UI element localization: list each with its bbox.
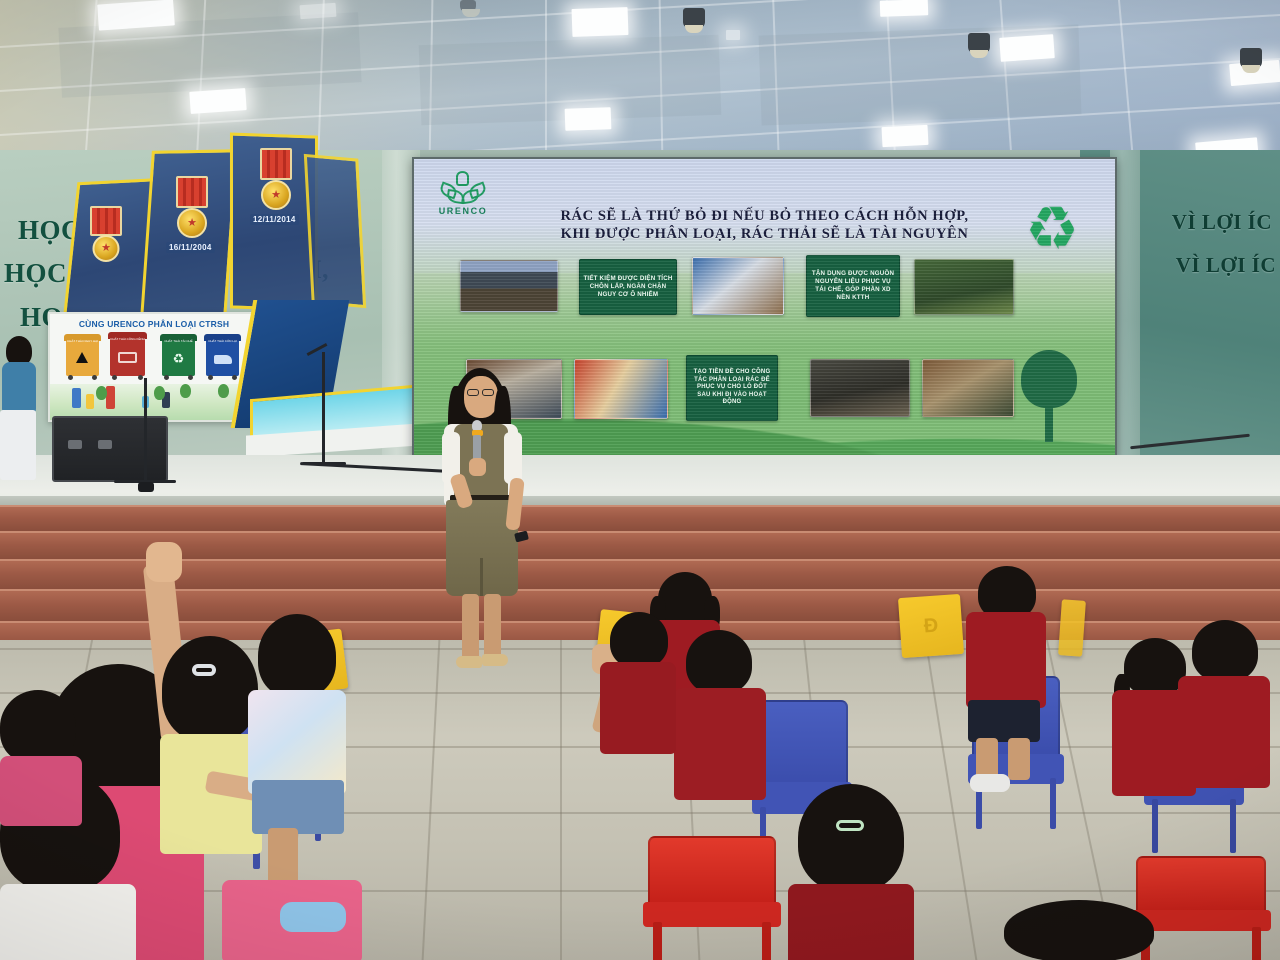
ceiling-spotlight-icon: [1240, 48, 1262, 68]
medal-3: ★: [258, 148, 294, 210]
mic-stand-left: [108, 378, 184, 498]
ceiling-panel-light: [189, 88, 246, 114]
child-uniform: [788, 884, 914, 960]
stage-step: [0, 505, 1280, 531]
child-uniform: [1178, 676, 1270, 788]
child-r3: [600, 612, 678, 762]
child-hair: [1004, 900, 1154, 960]
poster-person: [72, 388, 81, 408]
ceiling-panel-light: [300, 3, 337, 19]
staff-skirt: [0, 410, 36, 480]
residual-waste-icon: [214, 355, 232, 364]
slide-photo-sorting-hands: [692, 257, 784, 315]
ceiling-panel-light: [572, 7, 629, 37]
poster-tree: [218, 384, 229, 398]
child-r7: [786, 784, 916, 960]
slide-photo-green-field: [914, 259, 1014, 315]
poster-title: CÙNG URENCO PHÂN LOẠI CTRSH: [50, 319, 258, 329]
presenter-leg-left: [462, 594, 479, 662]
child-hair: [1192, 620, 1258, 682]
child-sneaker: [970, 774, 1010, 792]
child-l3: [242, 614, 350, 860]
presenter-face: [464, 376, 498, 418]
ceiling-panel-light: [726, 30, 740, 40]
hair-tie: [836, 820, 864, 831]
slide-photo-landfill-city: [460, 260, 558, 312]
bin-yellow-label: CHẤT THẢI NGUY HẠI: [66, 339, 99, 343]
chair-red[interactable]: [1136, 856, 1266, 960]
medal-1: ★: [88, 206, 124, 262]
bin-yellow: CHẤT THẢI NGUY HẠI: [66, 338, 99, 376]
glasses-icon: [482, 389, 494, 396]
medal-3-date: 12/11/2014: [250, 214, 299, 225]
banner-blade: [304, 154, 366, 308]
slide-textbox-3: TẠO TIỀN ĐỀ CHO CÔNG TÁC PHÂN LOẠI RÁC Đ…: [686, 355, 778, 421]
presenter-leg-right: [484, 594, 501, 662]
ceiling-spotlight-icon: [460, 0, 476, 12]
presenter-shoe-right: [482, 654, 508, 666]
hazard-icon: [76, 352, 88, 363]
child-uniform: [674, 688, 766, 800]
child-uniform: [600, 662, 676, 754]
ceiling-panel-light: [880, 0, 929, 17]
bin-green: CHẤT THẢI TÁI CHẾ ♻: [162, 338, 195, 376]
bin-green-label: CHẤT THẢI TÁI CHẾ: [162, 339, 195, 343]
recycle-icon: ♻: [162, 352, 195, 365]
slide-photo-recycled-bundles: [574, 359, 668, 419]
ceiling-panel-light: [999, 34, 1055, 62]
child-l5: [0, 690, 84, 820]
urenco-logo-icon: [439, 170, 487, 206]
presenter-hand-mic: [469, 458, 486, 476]
child-white-top: [0, 884, 136, 960]
stage-step: [0, 559, 1280, 589]
ceiling-panel-light: [882, 125, 929, 147]
child-tie-dye-top: [248, 690, 346, 794]
presenter-arm-right: [504, 432, 522, 484]
child-hair: [610, 612, 668, 668]
slide-textbox-2: TẬN DỤNG ĐƯỢC NGUỒN NGUYÊN LIỆU PHỤC VỤ …: [806, 255, 900, 317]
bin-red: CHẤT THẢI CỒNG KỀNH: [110, 336, 145, 376]
slide-textbox-1: TIẾT KIỆM ĐƯỢC DIỆN TÍCH CHÔN LẤP, NGĂN …: [579, 259, 677, 315]
ceiling-panel-light: [97, 0, 175, 31]
bin-blue-label: CHẤT THẢI CÒN LẠI: [206, 339, 239, 343]
medal-banner: ★ ★ 16/11/2004 ★ 12/11/2014: [62, 128, 362, 328]
ceiling-spotlight-icon: [968, 33, 990, 53]
recycle-icon: ♻: [1015, 195, 1089, 263]
slide-headline-line2: KHI ĐƯỢC PHÂN LOẠI, RÁC THẢI SẼ LÀ TÀI N…: [414, 225, 1115, 243]
child-hair: [258, 614, 336, 698]
staff-person: [0, 336, 40, 486]
child-denim-shorts: [252, 780, 344, 834]
child-r2: [668, 630, 768, 820]
slide-photo-dump-site: [810, 359, 910, 417]
presentation-clicker: [514, 531, 529, 543]
child-uniform: [966, 612, 1046, 708]
slide-headline-line1: RÁC SẼ LÀ THỨ BỎ ĐI NẾU BỎ THEO CÁCH HỖN…: [414, 207, 1115, 225]
wall-slogan-right-line1: VÌ LỢI ÍC: [1172, 210, 1272, 235]
photo-scene: HỌC HỌC ĐỂ HỌ NH, NG VÌ LỢI ÍC VÌ LỢI ÍC…: [0, 0, 1280, 960]
ceiling-spotlight-icon: [683, 8, 705, 28]
medal-2-date: 16/11/2004: [166, 242, 215, 253]
child-hair: [1124, 638, 1186, 696]
glasses-icon: [467, 389, 479, 396]
mic-stand-right: [296, 344, 356, 474]
child-hair: [798, 784, 904, 892]
staff-top: [2, 362, 36, 414]
child-r8: [1004, 900, 1154, 960]
child-hair: [686, 630, 752, 694]
ceiling-panel-light: [565, 107, 612, 131]
slide-photo-collection-truck: [922, 359, 1014, 417]
child-r4: [962, 566, 1048, 762]
child-hair: [0, 690, 76, 764]
chair-red[interactable]: [648, 836, 776, 960]
medal-2: ★: [174, 176, 210, 238]
slide-headline: RÁC SẼ LÀ THỨ BỎ ĐI NẾU BỎ THEO CÁCH HỖN…: [414, 207, 1115, 243]
child-shorts: [968, 700, 1040, 742]
bin-blue: CHẤT THẢI CÒN LẠI: [206, 338, 239, 376]
slide-tree-silhouette: [1021, 350, 1077, 442]
child-raised-hand: [146, 542, 182, 582]
poster-tree: [96, 386, 107, 400]
bin-red-label: CHẤT THẢI CỒNG KỀNH: [110, 337, 145, 341]
stage-step: [0, 531, 1280, 559]
presenter-shoe-left: [456, 656, 482, 668]
child-top: [0, 756, 82, 826]
hair-tie: [192, 664, 216, 676]
answer-board[interactable]: Đ: [898, 594, 964, 658]
child-sandal: [280, 902, 346, 932]
answer-board[interactable]: [1058, 599, 1086, 657]
wall-slogan-right-line2: VÌ LỢI ÍC: [1176, 253, 1276, 278]
presenter: [428, 362, 538, 692]
poster-person: [86, 394, 94, 409]
child-r6: [1178, 620, 1270, 820]
bulky-waste-icon: [118, 352, 137, 363]
presenter-skirt-pleat: [480, 558, 483, 596]
